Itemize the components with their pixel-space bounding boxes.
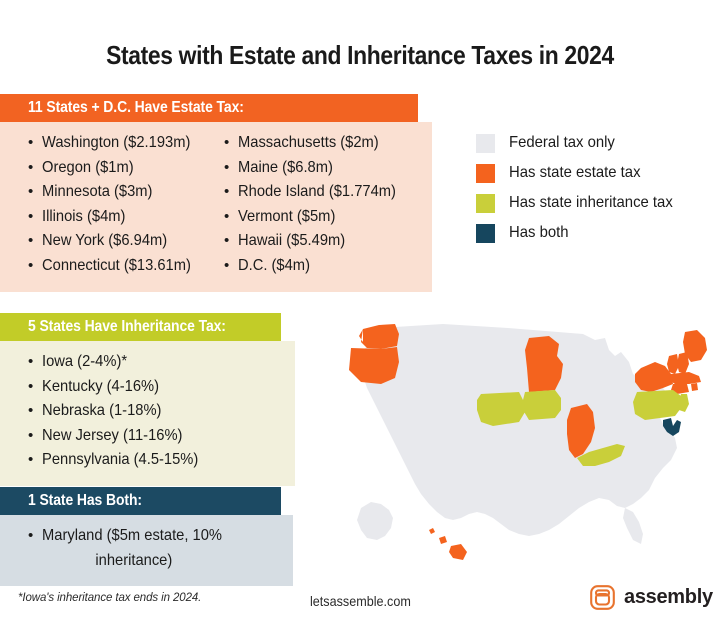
- list-item: New Jersey (11-16%): [28, 424, 295, 449]
- legend-label: Has state estate tax: [509, 164, 641, 182]
- estate-state-label: Rhode Island ($1.774m): [238, 180, 396, 205]
- legend-swatch-icon: [476, 164, 495, 183]
- legend-label: Federal tax only: [509, 134, 615, 152]
- inheritance-tax-list: Iowa (2-4%)* Kentucky (4-16%) Nebraska (…: [28, 350, 295, 473]
- estate-state-label: Oregon ($1m): [42, 156, 134, 181]
- both-taxes-header: 1 State Has Both:: [0, 487, 281, 515]
- state-base-continental: [361, 324, 677, 536]
- assembly-logo-icon: [590, 585, 615, 610]
- estate-tax-header: 11 States + D.C. Have Estate Tax:: [0, 94, 418, 122]
- estate-state-label: Hawaii ($5.49m): [238, 229, 345, 254]
- map-legend: Federal tax only Has state estate tax Ha…: [476, 128, 685, 248]
- state-base-alaska: [357, 502, 393, 540]
- both-taxes-panel: 1 State Has Both: Maryland ($5m estate, …: [0, 487, 293, 586]
- list-item: Illinois ($4m): [28, 205, 224, 230]
- both-state-label-continued: inheritance): [42, 548, 261, 573]
- inheritance-state-label: Kentucky (4-16%): [42, 375, 159, 400]
- estate-state-label: Illinois ($4m): [42, 205, 125, 230]
- list-item: Vermont ($5m): [224, 205, 424, 230]
- state-massachusetts: [669, 372, 701, 384]
- inheritance-state-label: Iowa (2-4%)*: [42, 350, 127, 375]
- list-item: D.C. ($4m): [224, 254, 424, 279]
- inheritance-state-label: Nebraska (1-18%): [42, 399, 161, 424]
- state-pennsylvania: [633, 390, 681, 420]
- state-minnesota: [525, 336, 563, 392]
- list-item: Hawaii ($5.49m): [224, 229, 424, 254]
- legend-label: Has both: [509, 224, 569, 242]
- inheritance-tax-body: Iowa (2-4%)* Kentucky (4-16%) Nebraska (…: [0, 341, 295, 486]
- list-item: Minnesota ($3m): [28, 180, 224, 205]
- footnote: *Iowa's inheritance tax ends in 2024.: [18, 592, 201, 604]
- list-item: Maine ($6.8m): [224, 156, 424, 181]
- estate-tax-header-label: 11 States + D.C. Have Estate Tax:: [28, 99, 244, 117]
- state-new-jersey: [679, 394, 689, 412]
- list-item: Iowa (2-4%)*: [28, 350, 295, 375]
- website-url[interactable]: letsassemble.com: [310, 593, 411, 609]
- estate-tax-panel: 11 States + D.C. Have Estate Tax: Washin…: [0, 94, 432, 292]
- list-item: Maryland ($5m estate, 10% inheritance): [28, 523, 280, 573]
- both-taxes-body: Maryland ($5m estate, 10% inheritance): [0, 515, 293, 586]
- list-item: Rhode Island ($1.774m): [224, 180, 424, 205]
- map-base-layer: [357, 324, 677, 544]
- state-base-florida-tip: [623, 508, 643, 544]
- estate-state-label: New York ($6.94m): [42, 229, 167, 254]
- inheritance-tax-header: 5 States Have Inheritance Tax:: [0, 313, 281, 341]
- legend-item-both: Has both: [476, 218, 685, 248]
- both-state-label: Maryland ($5m estate, 10%: [42, 523, 222, 548]
- us-map: [333, 312, 720, 580]
- estate-state-label: D.C. ($4m): [238, 254, 310, 279]
- state-hawaii: [429, 528, 467, 560]
- inheritance-tax-header-label: 5 States Have Inheritance Tax:: [28, 318, 226, 336]
- both-taxes-list: Maryland ($5m estate, 10% inheritance): [28, 523, 293, 573]
- state-new-york: [635, 362, 673, 392]
- list-item: Oregon ($1m): [28, 156, 224, 181]
- inheritance-state-label: New Jersey (11-16%): [42, 424, 182, 449]
- estate-state-label: Massachusetts ($2m): [238, 131, 379, 156]
- inheritance-tax-panel: 5 States Have Inheritance Tax: Iowa (2-4…: [0, 313, 295, 486]
- estate-state-label: Vermont ($5m): [238, 205, 335, 230]
- legend-swatch-icon: [476, 224, 495, 243]
- estate-state-label: Washington ($2.193m): [42, 131, 190, 156]
- state-rhode-island: [691, 383, 698, 391]
- page-title: States with Estate and Inheritance Taxes…: [43, 40, 677, 71]
- estate-tax-body: Washington ($2.193m) Oregon ($1m) Minnes…: [0, 122, 432, 292]
- list-item: Nebraska (1-18%): [28, 399, 295, 424]
- estate-tax-list-column-a: Washington ($2.193m) Oregon ($1m) Minnes…: [28, 131, 224, 278]
- brand-logo: assembly: [590, 585, 713, 610]
- estate-state-label: Minnesota ($3m): [42, 180, 152, 205]
- list-item: Kentucky (4-16%): [28, 375, 295, 400]
- legend-swatch-icon: [476, 134, 495, 153]
- legend-item-estate-tax: Has state estate tax: [476, 158, 685, 188]
- both-taxes-header-label: 1 State Has Both:: [28, 492, 142, 510]
- legend-item-federal-only: Federal tax only: [476, 128, 685, 158]
- estate-state-label: Maine ($6.8m): [238, 156, 333, 181]
- state-iowa: [523, 390, 561, 420]
- inheritance-state-label: Pennsylvania (4.5-15%): [42, 448, 198, 473]
- legend-label: Has state inheritance tax: [509, 194, 673, 212]
- state-oregon: [349, 347, 399, 384]
- list-item: Massachusetts ($2m): [224, 131, 424, 156]
- estate-state-label: Connecticut ($13.61m): [42, 254, 191, 279]
- legend-swatch-icon: [476, 194, 495, 213]
- list-item: Connecticut ($13.61m): [28, 254, 224, 279]
- list-item: New York ($6.94m): [28, 229, 224, 254]
- list-item: Washington ($2.193m): [28, 131, 224, 156]
- legend-item-inheritance-tax: Has state inheritance tax: [476, 188, 685, 218]
- brand-name: assembly: [624, 586, 713, 609]
- state-nebraska: [477, 392, 525, 426]
- list-item: Pennsylvania (4.5-15%): [28, 448, 295, 473]
- state-washington: [359, 324, 399, 349]
- estate-tax-list-column-b: Massachusetts ($2m) Maine ($6.8m) Rhode …: [224, 131, 424, 278]
